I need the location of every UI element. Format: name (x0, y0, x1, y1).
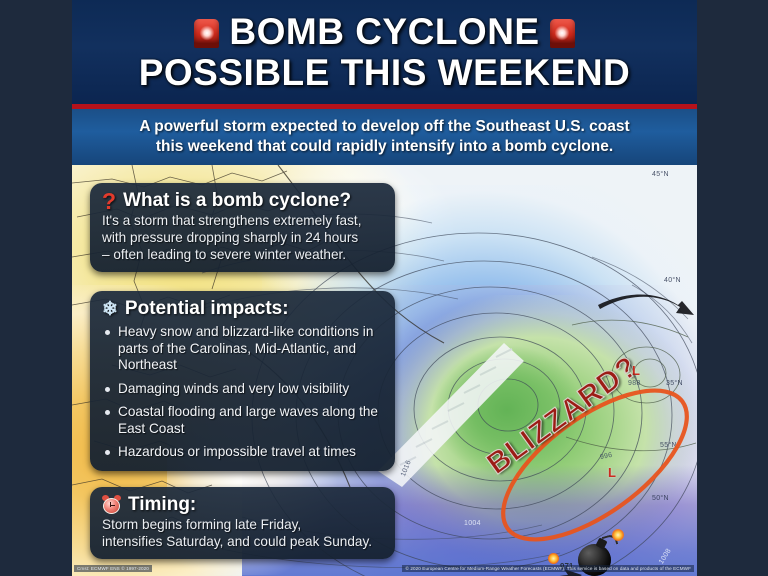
page-title: BOMB CYCLONE (229, 12, 539, 52)
map-isobar-label: 988 (628, 380, 641, 387)
attribution-left: Cmst: ECMWF ENS © 1997-2020 (74, 565, 152, 572)
subtitle-banner: A powerful storm expected to develop off… (72, 109, 697, 165)
list-item: Coastal flooding and large waves along t… (102, 404, 383, 437)
card-what-line-1: It's a storm that strengthens extremely … (102, 212, 383, 229)
attribution: Cmst: ECMWF ENS © 1997-2020 © 2020 Europ… (72, 563, 697, 574)
title-line-2: POSSIBLE THIS WEEKEND (139, 52, 631, 94)
snowflake-icon: ❄ (102, 300, 118, 319)
infographic-root: BOMB CYCLONE POSSIBLE THIS WEEKEND A pow… (0, 0, 768, 576)
siren-icon (550, 19, 575, 46)
card-timing-line-2: intensifies Saturday, and could peak Sun… (102, 533, 383, 550)
map-latitude-label: 55°N (660, 442, 677, 449)
question-mark-icon: ? (102, 192, 116, 211)
card-impacts-heading: ❄ Potential impacts: (102, 298, 383, 320)
letterbox-left (0, 0, 72, 576)
card-timing-heading: Timing: (102, 494, 383, 516)
card-timing: Timing: Storm begins forming late Friday… (90, 487, 395, 559)
list-item: Damaging winds and very low visibility (102, 381, 383, 398)
page-subtitle-title: POSSIBLE THIS WEEKEND (139, 52, 631, 94)
card-timing-body: Storm begins forming late Friday, intens… (102, 516, 383, 550)
letterbox-right (697, 0, 768, 576)
card-what-line-2: with pressure dropping sharply in 24 hou… (102, 229, 383, 246)
map-latitude-label: 45°N (652, 171, 669, 178)
weather-map: 45°N 40°N 35°N 55°N 50°N 1016 1004 996 9… (72, 165, 697, 576)
attribution-right: © 2020 European Centre for Medium-Range … (402, 565, 694, 572)
title-line-1: BOMB CYCLONE (194, 12, 574, 52)
poster: BOMB CYCLONE POSSIBLE THIS WEEKEND A pow… (72, 0, 697, 576)
alarm-clock-icon (102, 496, 121, 515)
card-impacts-heading-text: Potential impacts: (125, 298, 289, 320)
map-latitude-label: 50°N (652, 495, 669, 502)
card-potential-impacts: ❄ Potential impacts: Heavy snow and bliz… (90, 291, 395, 471)
card-what-heading: ? What is a bomb cyclone? (102, 190, 383, 212)
list-item: Hazardous or impossible travel at times (102, 444, 383, 461)
siren-icon (194, 19, 219, 46)
map-isobar-label: 1004 (464, 520, 481, 527)
subtitle-line-2: this weekend that could rapidly intensif… (156, 137, 613, 157)
card-timing-heading-text: Timing: (128, 494, 196, 516)
map-latitude-label: 35°N (666, 380, 683, 387)
card-what-body: It's a storm that strengthens extremely … (102, 212, 383, 263)
low-pressure-marker: L (632, 363, 640, 378)
card-what-is-bomb-cyclone: ? What is a bomb cyclone? It's a storm t… (90, 183, 395, 272)
card-timing-line-1: Storm begins forming late Friday, (102, 516, 383, 533)
card-what-line-3: – often leading to severe winter weather… (102, 246, 383, 263)
card-what-heading-text: What is a bomb cyclone? (123, 190, 351, 212)
subtitle-line-1: A powerful storm expected to develop off… (139, 117, 629, 137)
map-latitude-label: 40°N (664, 277, 681, 284)
low-pressure-marker: L (608, 465, 616, 480)
impacts-list: Heavy snow and blizzard-like conditions … (102, 324, 383, 461)
header: BOMB CYCLONE POSSIBLE THIS WEEKEND (72, 0, 697, 104)
list-item: Heavy snow and blizzard-like conditions … (102, 324, 383, 374)
